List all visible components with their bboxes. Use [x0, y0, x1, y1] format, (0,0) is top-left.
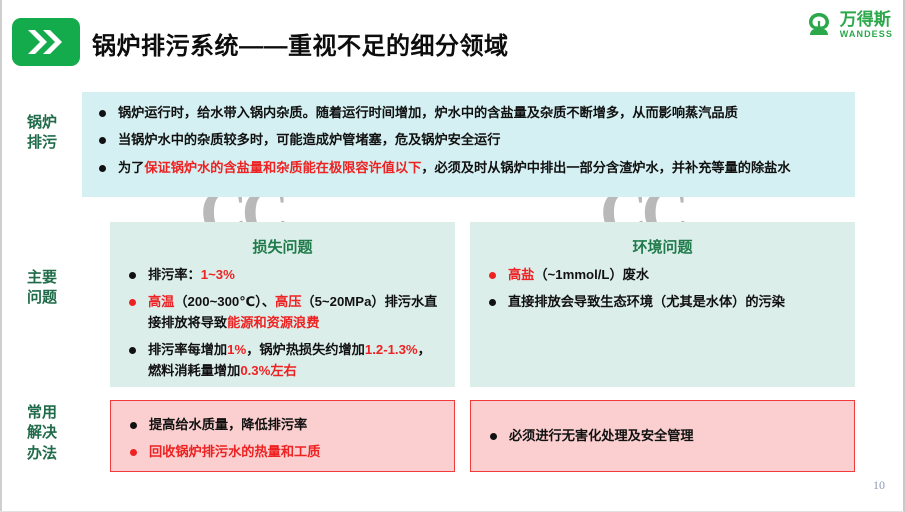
- list-item: 高温（200~300℃）、高压（5~20MPa）排污水直接排放将导致能源和资源浪…: [126, 292, 439, 333]
- row-label-boiler-blowdown: 锅炉 排污: [6, 113, 78, 154]
- list-item: 排污率每增加1%，锅炉热损失约增加1.2-1.3%，燃料消耗量增加0.3%左右: [126, 340, 439, 381]
- list-item: 高盐（~1mmol/L）废水: [486, 265, 839, 285]
- double-chevron-right-icon: [12, 18, 80, 66]
- plant-leaf-icon: [804, 10, 834, 40]
- bullet-list-loss-problems: 排污率：1~3% 高温（200~300℃）、高压（5~20MPa）排污水直接排放…: [126, 265, 439, 381]
- box-solutions-right: 必须进行无害化处理及安全管理: [470, 400, 855, 472]
- box-title-environment-problems: 环境问题: [486, 236, 839, 257]
- logo-name-en: WANDESS: [840, 30, 893, 39]
- page-title: 锅炉排污系统——重视不足的细分领域: [92, 26, 509, 61]
- slide-header: 锅炉排污系统——重视不足的细分领域 万得斯 WANDESS: [0, 0, 905, 82]
- bullet-list-solutions-left: 提高给水质量，降低排污率 回收锅炉排污水的热量和工质: [127, 415, 438, 463]
- bullet-list-environment-problems: 高盐（~1mmol/L）废水 直接排放会导致生态环境（尤其是水体）的污染: [486, 265, 839, 313]
- box-solutions-left: 提高给水质量，降低排污率 回收锅炉排污水的热量和工质: [110, 400, 455, 472]
- box-loss-problems: 损失问题 排污率：1~3% 高温（200~300℃）、高压（5~20MPa）排污…: [110, 222, 455, 387]
- bullet-list-solutions-right: 必须进行无害化处理及安全管理: [487, 426, 838, 446]
- box-title-loss-problems: 损失问题: [126, 236, 439, 257]
- list-item: 提高给水质量，降低排污率: [127, 415, 438, 435]
- page-number: 10: [873, 478, 885, 493]
- list-item: 回收锅炉排污水的热量和工质: [127, 442, 438, 462]
- slide: 锅炉排污系统——重视不足的细分领域 万得斯 WANDESS CC CC 锅炉 排…: [0, 0, 905, 512]
- list-item: 当锅炉水中的杂质较多时，可能造成炉管堵塞，危及锅炉安全运行: [96, 130, 841, 150]
- box-boiler-blowdown: 锅炉运行时，给水带入锅内杂质。随着运行时间增加，炉水中的含盐量及杂质不断增多，从…: [82, 92, 855, 197]
- list-item: 锅炉运行时，给水带入锅内杂质。随着运行时间增加，炉水中的含盐量及杂质不断增多，从…: [96, 103, 841, 123]
- row-label-main-problems: 主要 问题: [6, 268, 78, 309]
- bullet-list-boiler-blowdown: 锅炉运行时，给水带入锅内杂质。随着运行时间增加，炉水中的含盐量及杂质不断增多，从…: [96, 103, 841, 178]
- row-label-common-solutions: 常用 解决 办法: [6, 403, 78, 464]
- logo-name-cn: 万得斯: [840, 11, 893, 28]
- box-environment-problems: 环境问题 高盐（~1mmol/L）废水 直接排放会导致生态环境（尤其是水体）的污…: [470, 222, 855, 387]
- list-item: 必须进行无害化处理及安全管理: [487, 426, 838, 446]
- list-item: 为了保证锅炉水的含盐量和杂质能在极限容许值以下，必须及时从锅炉中排出一部分含渣炉…: [96, 158, 841, 178]
- list-item: 直接排放会导致生态环境（尤其是水体）的污染: [486, 292, 839, 312]
- list-item: 排污率：1~3%: [126, 265, 439, 285]
- brand-logo: 万得斯 WANDESS: [804, 10, 893, 40]
